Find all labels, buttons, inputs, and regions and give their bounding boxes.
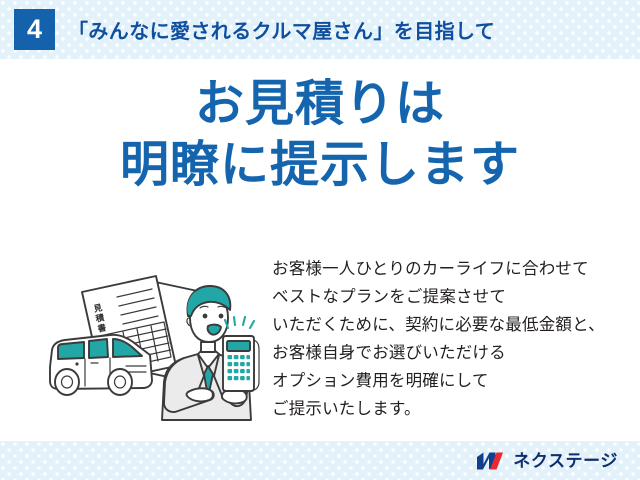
body-copy-line-3: いただくために、契約に必要な最低金額と、: [272, 311, 632, 339]
body-copy-line-6: ご提示いたします。: [272, 395, 632, 423]
estimate-illustration: .ln{fill:none;stroke:#3b3b3b;stroke-widt…: [38, 258, 270, 434]
van-illustration: [50, 335, 152, 395]
header-band: 4 「みんなに愛されるクルマ屋さん」を目指して: [0, 0, 640, 59]
body-copy-line-5: オプション費用を明確にして: [272, 367, 632, 395]
brand-name: ネクステージ: [513, 452, 618, 469]
calculator-icon: [223, 336, 259, 391]
body-copy-line-1: お客様一人ひとりのカーライフに合わせて: [272, 255, 632, 283]
body-copy-line-4: お客様自身でお選びいただける: [272, 339, 632, 367]
promo-slide: 4 「みんなに愛されるクルマ屋さん」を目指して お見積りは 明瞭に提示します .…: [0, 0, 640, 480]
headline-line-2: 明瞭に提示します: [0, 135, 640, 196]
header-inner: 4 「みんなに愛されるクルマ屋さん」を目指して: [0, 9, 495, 50]
header-title: 「みんなに愛されるクルマ屋さん」を目指して: [68, 15, 495, 44]
footer-band: ネクステージ: [0, 441, 640, 480]
nextage-n-mark-icon: [476, 451, 506, 470]
page-title: お見積りは 明瞭に提示します: [0, 74, 640, 197]
body-copy: お客様一人ひとりのカーライフに合わせて ベストなプランをご提案させて いただくた…: [272, 255, 632, 423]
headline-line-1: お見積りは: [0, 74, 640, 135]
sparkle-icon: [225, 317, 254, 328]
section-number-badge: 4: [14, 9, 55, 50]
body-copy-line-2: ベストなプランをご提案させて: [272, 283, 632, 311]
brand-logo: ネクステージ: [476, 451, 618, 470]
